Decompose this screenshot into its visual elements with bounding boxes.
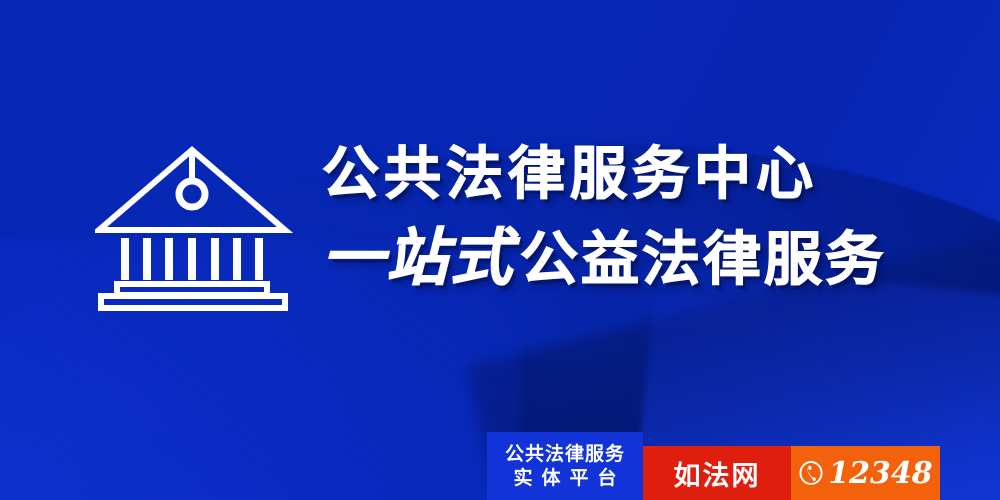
headline-brush-text: 一站式 <box>322 221 520 294</box>
headline-line-1: 公共法律服务中心 <box>322 146 942 203</box>
headline-bold-text: 公益法律服务 <box>520 227 886 292</box>
rufawang-label: 如法网 <box>674 454 761 493</box>
phone-handset-icon <box>798 460 824 486</box>
hotline-number: 12348 <box>828 456 932 491</box>
courthouse-icon <box>95 138 300 313</box>
blue-badge-line-2: 实体平台 <box>504 467 625 491</box>
public-legal-service-banner: 公共法律服务中心 一站式公益法律服务 公共法律服务 实体平台 如法网 12348 <box>0 0 1000 500</box>
blue-platform-badge[interactable]: 公共法律服务 实体平台 <box>487 432 643 500</box>
headline-line-2: 一站式公益法律服务 <box>322 227 942 289</box>
blue-badge-line-1: 公共法律服务 <box>505 443 625 467</box>
rufawang-badge[interactable]: 如法网 <box>643 446 791 500</box>
headline-block: 公共法律服务中心 一站式公益法律服务 <box>322 146 942 289</box>
hotline-badge[interactable]: 12348 <box>791 446 940 500</box>
